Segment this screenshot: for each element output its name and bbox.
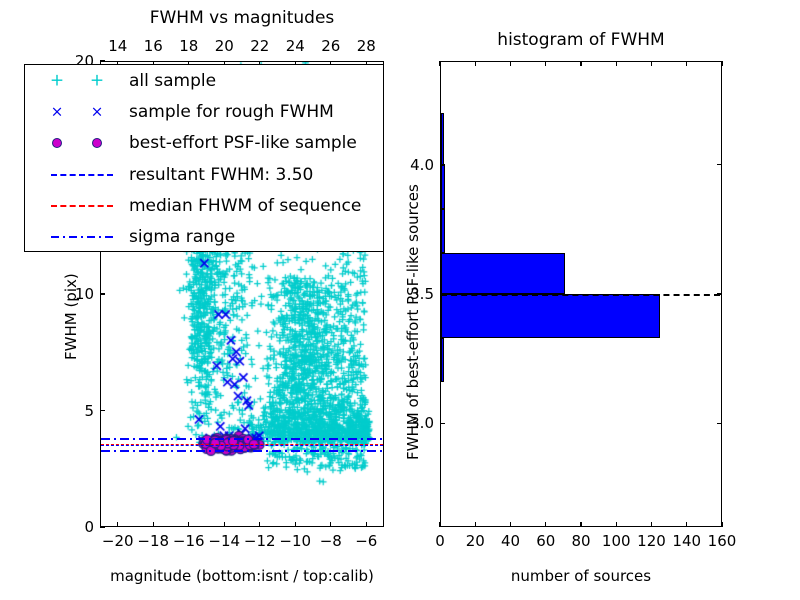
left-xtick-label-bottom: −12: [244, 532, 276, 550]
left-xtick-label-top: 18: [179, 37, 198, 55]
dashdot-line-icon: [51, 236, 113, 238]
plus-marker-icon: +: [50, 72, 64, 89]
legend-item: ××sample for rough FWHM: [25, 98, 383, 126]
legend-label: sample for rough FWHM: [129, 102, 334, 122]
legend-marker: ××: [33, 98, 133, 126]
reference-line-sigma-lower: [101, 450, 382, 452]
right-xtick-label: 60: [536, 532, 555, 550]
plus-marker-icon: +: [90, 72, 104, 89]
cross-marker-icon: ×: [91, 105, 104, 120]
legend: ++all sample××sample for rough FWHMbest-…: [24, 64, 384, 252]
legend-item: ++all sample: [25, 67, 383, 95]
left-xaxis-label: magnitude (bottom:isnt / top:calib): [110, 567, 374, 585]
right-xaxis-label: number of sources: [511, 567, 651, 585]
right-xtick: [721, 522, 722, 527]
left-xtick-label-bottom: −6: [355, 532, 377, 550]
histogram-bar: [441, 209, 445, 253]
legend-item: resultant FWHM: 3.50: [25, 161, 383, 189]
reference-line-resultant-fwhm: [101, 445, 382, 446]
left-xtick-label-bottom: −14: [208, 532, 240, 550]
right-xtick-label: 0: [435, 532, 445, 550]
histogram-bar: [441, 253, 564, 294]
left-ytick-label: 5: [84, 402, 94, 420]
histogram-median-line: [441, 294, 720, 296]
left-ytick: [100, 526, 105, 527]
left-xtick-label-top: 14: [108, 37, 127, 55]
legend-item: sigma range: [25, 223, 383, 251]
left-xtick-label-top: 16: [144, 37, 163, 55]
histogram-bar: [441, 338, 443, 382]
figure-canvas: FWHM vs magnitudes magnitude (bottom:isn…: [0, 0, 800, 600]
left-xtick-label-bottom: −16: [173, 532, 205, 550]
left-xtick-label-top: 28: [357, 37, 376, 55]
legend-marker: ++: [33, 67, 133, 95]
circle-marker-icon: [92, 138, 102, 148]
cross-marker-icon: ×: [51, 105, 64, 120]
right-xtick-label: 20: [466, 532, 485, 550]
left-xtick-label-bottom: −18: [137, 532, 169, 550]
right-xtick-label: 80: [571, 532, 590, 550]
left-xtick-label-bottom: −10: [279, 532, 311, 550]
left-ytick-label: 0: [84, 518, 94, 536]
legend-label: sigma range: [129, 227, 235, 247]
dashed-line-icon: [51, 205, 113, 207]
legend-item: median FHWM of sequence: [25, 192, 383, 220]
left-ytick-label: 10: [75, 285, 94, 303]
legend-label: best-effort PSF-like sample: [129, 133, 357, 153]
histogram-bar: [441, 165, 445, 209]
right-ytick-label: 4.0: [410, 156, 434, 174]
right-ytick-label: 3.5: [410, 285, 434, 303]
right-xtick-label: 120: [637, 532, 666, 550]
right-plot-title: histogram of FWHM: [497, 30, 664, 50]
left-xtick-label-bottom: −20: [102, 532, 134, 550]
circle-marker-icon: [52, 138, 62, 148]
legend-label: all sample: [129, 71, 216, 91]
reference-line-sigma-upper: [101, 438, 382, 440]
left-xtick-label-top: 26: [321, 37, 340, 55]
right-xtick-label: 40: [501, 532, 520, 550]
histogram-area: [441, 62, 720, 525]
reference-line-median-fhwm-of-sequence: [101, 444, 382, 445]
legend-label: median FHWM of sequence: [129, 196, 361, 216]
legend-marker: [33, 192, 133, 220]
legend-label: resultant FWHM: 3.50: [129, 165, 313, 185]
legend-marker: [33, 161, 133, 189]
right-xtick-label: 140: [672, 532, 701, 550]
right-xtick-label: 160: [708, 532, 737, 550]
right-xtick-top: [721, 61, 722, 66]
histogram-bar: [441, 294, 660, 338]
right-xtick-label: 100: [602, 532, 631, 550]
left-ytick: [100, 60, 105, 61]
right-ytick-label: 3.0: [410, 414, 434, 432]
histogram-bar: [441, 113, 443, 165]
left-xtick-label-top: 24: [286, 37, 305, 55]
right-xtick: [439, 522, 440, 527]
left-xtick-label-top: 20: [215, 37, 234, 55]
dashed-line-icon: [51, 174, 113, 176]
right-xtick-top: [439, 61, 440, 66]
legend-marker: [33, 129, 133, 157]
left-xtick-label-top: 22: [250, 37, 269, 55]
legend-marker: [33, 223, 133, 251]
legend-item: best-effort PSF-like sample: [25, 129, 383, 157]
left-xtick-label-bottom: −8: [320, 532, 342, 550]
left-plot-title: FWHM vs magnitudes: [150, 8, 335, 28]
